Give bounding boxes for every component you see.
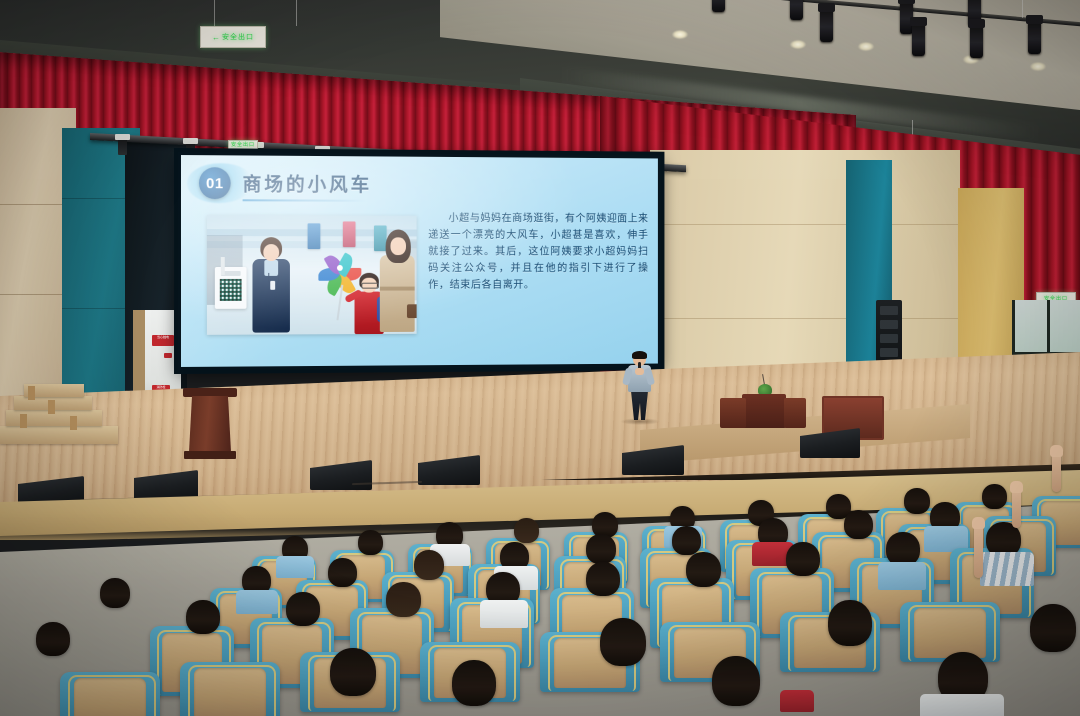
student-head [186, 600, 220, 634]
stage-light [912, 22, 925, 56]
ceiling-downlight [672, 30, 688, 39]
slide: 01 商场的小风车 [181, 155, 658, 367]
student-head [686, 552, 721, 587]
exit-sign-wire [214, 0, 215, 26]
student-head [828, 600, 872, 646]
student-head [386, 582, 421, 617]
raised-hand [1012, 488, 1021, 528]
student-head [358, 530, 383, 555]
student-head [672, 526, 701, 555]
student-head [286, 592, 320, 626]
student-head [844, 510, 873, 539]
wooden-steps [0, 382, 130, 464]
student-head [330, 648, 376, 696]
exit-sign-ceiling: ← 安全出口 [200, 26, 266, 48]
slide-illustration [207, 215, 417, 335]
slide-body-text: 小超与妈妈在商场逛街，有个阿姨迎面上来递送一个漂亮的大风车，小超甚是喜欢，伸手就… [428, 210, 648, 294]
seat[interactable] [60, 672, 160, 716]
student-head [328, 558, 357, 587]
ceiling-downlight [858, 42, 874, 51]
presenter-officer [624, 352, 654, 422]
stage-light [790, 0, 803, 20]
student-head [586, 562, 620, 596]
student-torso [878, 562, 926, 590]
slide-title: 商场的小风车 [243, 169, 372, 196]
stage-light [712, 0, 725, 12]
stage-light [970, 24, 983, 58]
student-torso [780, 690, 814, 712]
seat[interactable] [180, 662, 280, 716]
exit-sign-label: 安全出口 [222, 34, 254, 41]
wooden-podium [186, 388, 234, 460]
exit-arrow-icon: ← [212, 33, 220, 42]
student-torso [236, 590, 278, 614]
title-underline [243, 199, 367, 201]
stage-light [1028, 20, 1041, 54]
ceiling-downlight [1030, 62, 1046, 71]
student-torso [980, 552, 1034, 586]
student-head [36, 622, 70, 656]
student-torso [920, 694, 1004, 716]
student-torso [276, 556, 314, 578]
exit-sign-label: 安全出口 [231, 143, 255, 148]
stage-light [820, 8, 833, 42]
exit-sign-wire [296, 0, 297, 26]
slide-number-badge: 01 [199, 167, 231, 199]
wall-sign-label: 当心触电 [152, 335, 174, 341]
side-table [784, 398, 806, 428]
student-head [886, 532, 920, 566]
wall-sign-electric: 当心触电 [152, 335, 174, 346]
side-table [720, 398, 746, 428]
truss-clamp [118, 138, 127, 155]
student-head [786, 542, 820, 576]
qr-code-icon [220, 279, 242, 301]
raised-hand [1052, 452, 1061, 492]
light-hanging-wire [1022, 0, 1023, 18]
student-head [712, 656, 760, 706]
mall-banner [343, 221, 356, 247]
student-head [982, 484, 1007, 509]
wall-sign-box [164, 353, 172, 358]
student-head [904, 488, 930, 514]
mother-in-beige-coat [378, 229, 417, 332]
exit-sign-stage: 安全出口 [228, 140, 258, 151]
auditorium-photo: ← 安全出口 安全出口 当心触电 消防栓 安全出口 [0, 0, 1080, 716]
student-torso [480, 600, 528, 628]
ceiling-downlight [790, 40, 806, 49]
student-head [414, 550, 444, 580]
student-head [100, 578, 130, 608]
student-head [452, 660, 496, 706]
qr-stand-leg [221, 257, 225, 275]
qr-code-stand [215, 267, 247, 309]
student-head [586, 534, 616, 564]
armchair [742, 394, 786, 428]
led-presentation-screen: 01 商场的小风车 [178, 152, 661, 370]
student-head [514, 518, 539, 543]
student-head [1030, 604, 1076, 652]
seat[interactable] [900, 602, 1000, 662]
student-head [600, 618, 646, 666]
promoter-woman [251, 237, 292, 333]
raised-hand [974, 524, 983, 578]
